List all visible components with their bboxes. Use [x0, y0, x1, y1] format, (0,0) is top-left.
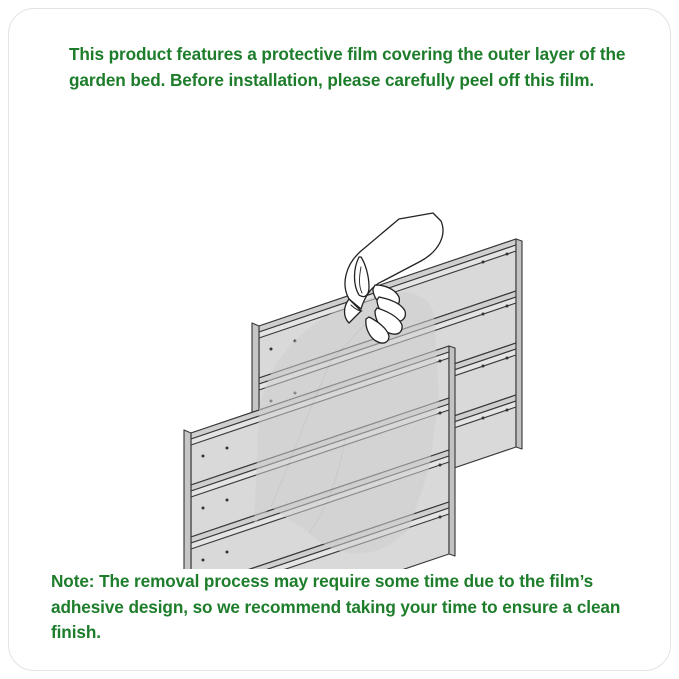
illustration-svg	[9, 109, 679, 569]
removal-note-text: Note: The removal process may require so…	[51, 569, 636, 646]
instruction-card: This product features a protective film …	[8, 8, 671, 671]
intro-instruction-text: This product features a protective film …	[69, 42, 629, 93]
garden-bed-film-peel-illustration	[9, 109, 679, 569]
